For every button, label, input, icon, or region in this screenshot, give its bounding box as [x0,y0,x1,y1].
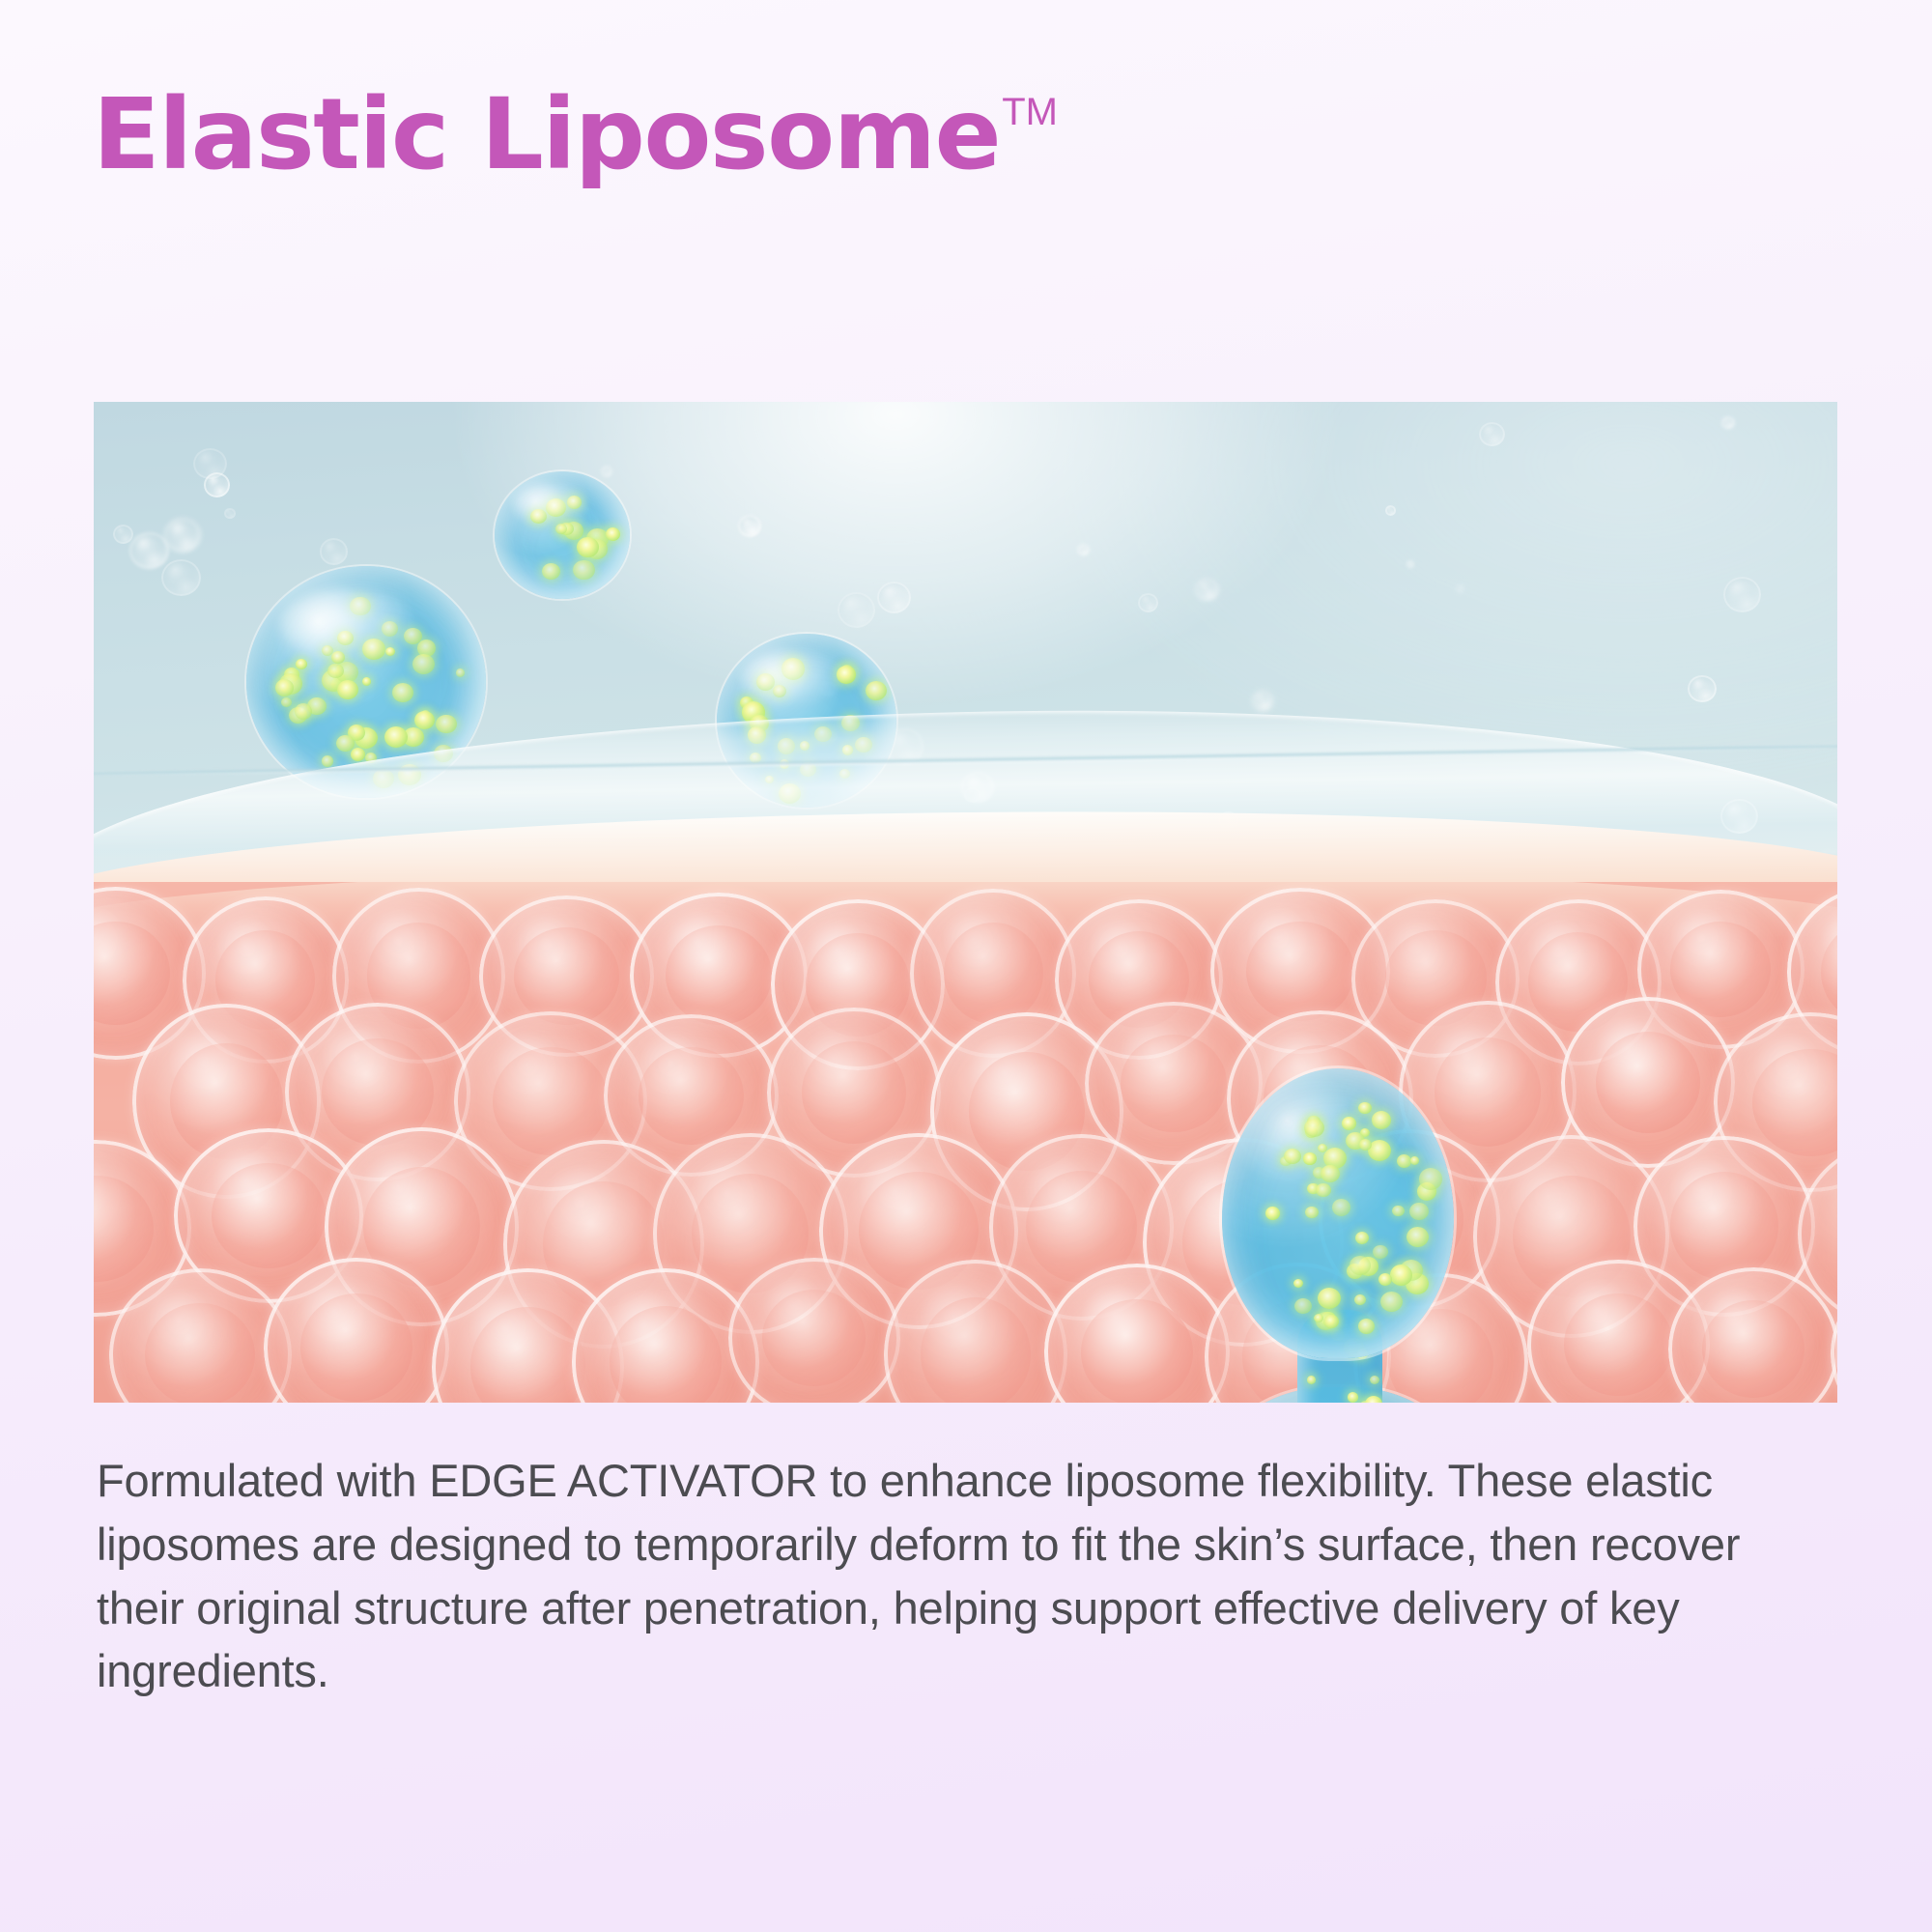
active-ingredient-dot [1307,1376,1316,1384]
page-title-text: Elastic Liposome [93,85,1000,185]
active-ingredient-dot [1318,1288,1341,1309]
skin-cell-core [1702,1300,1804,1398]
active-ingredient-dot [362,639,384,659]
active-ingredient-dot [756,673,775,691]
active-ingredient-dot [1406,1227,1429,1247]
skin-cell-core [1246,922,1353,1021]
liposome-penetration-figure [94,402,1837,1403]
active-ingredient-dot [337,631,354,645]
active-ingredient-dot [296,659,307,669]
active-ingredient-dot [1410,1156,1419,1165]
micro-bubble [193,448,227,480]
active-ingredient-dot [1284,1149,1301,1164]
active-ingredient-dot [275,679,295,696]
micro-bubble [224,508,235,519]
active-ingredient-dot [1419,1168,1443,1190]
active-ingredient-dot [322,755,334,767]
active-ingredient-dot [577,537,598,557]
micro-bubble [129,532,169,569]
active-ingredient-dot [1321,1165,1340,1182]
active-ingredient-dot [781,658,806,680]
skin-cell-core [493,1047,609,1155]
active-ingredient-dot [414,711,435,730]
active-ingredient-dot [1390,1264,1412,1285]
liposome-penetrating-upper-lobe [1222,1068,1454,1358]
active-ingredient-dot [331,651,345,664]
trademark-symbol: TM [1002,93,1058,131]
liposome-penetrating [1205,1068,1475,1403]
micro-bubble [164,518,202,553]
active-ingredient-dot [573,560,595,581]
micro-bubble [1252,691,1273,711]
active-ingredient-dot [350,597,370,616]
active-ingredient-dot [1354,1294,1367,1306]
skin-cell-core [212,1163,326,1268]
skin-cell-core [1752,1049,1837,1156]
active-ingredient-dot [837,666,856,683]
micro-bubble [161,559,201,596]
active-ingredient-dot [436,715,456,733]
active-ingredient-dot [1304,1119,1324,1138]
active-ingredient-dot [866,681,887,700]
micro-bubble [1688,675,1716,702]
micro-bubble [1077,544,1090,555]
active-ingredient-dot [542,563,560,580]
active-ingredient-dot [1303,1152,1316,1164]
active-ingredient-dot [1358,1319,1375,1334]
active-ingredient-dot [530,509,547,525]
skin-cell-core [921,1297,1031,1403]
micro-bubble [1385,505,1396,516]
active-ingredient-dot [1380,1292,1403,1312]
figure-caption: Formulated with EDGE ACTIVATOR to enhanc… [97,1449,1835,1703]
skin-cell-core [94,922,170,1025]
active-ingredient-dot [1355,1232,1369,1244]
micro-bubble [1721,416,1734,429]
active-ingredient-dot [362,677,372,686]
active-ingredient-dot [295,703,312,720]
skin-cell-core [1564,1293,1673,1396]
active-ingredient-dot [327,664,344,679]
active-ingredient-dot [1373,1245,1388,1260]
micro-bubble [1406,560,1414,568]
active-ingredient-dot [351,748,365,761]
active-ingredient-dot [1409,1203,1429,1220]
skin-cell-core [762,1290,866,1386]
skin-cell-core [666,925,772,1025]
active-ingredient-dot [1316,1183,1331,1198]
active-ingredient-dot [1348,1392,1358,1402]
active-ingredient-dot [1392,1206,1405,1217]
active-ingredient-dot [773,685,786,697]
skin-cell-core [1670,922,1771,1017]
skin-cell-core [470,1307,585,1403]
active-ingredient-dot [1372,1111,1391,1129]
active-ingredient-dot [384,726,408,748]
active-ingredient-dot [1365,1396,1382,1403]
active-ingredient-dot [404,628,422,644]
liposome-small-upper [495,471,630,599]
active-ingredient-dot [1358,1102,1372,1115]
micro-bubble [1138,593,1158,612]
active-ingredient-dot [1265,1207,1280,1219]
skin-cell-core [1081,1299,1193,1403]
active-ingredient-dot [392,683,413,703]
skin-cell-core [944,923,1043,1024]
skin-cell-core [639,1047,744,1145]
active-ingredient-dot [1397,1154,1411,1168]
active-ingredient-dot [1378,1273,1393,1286]
active-ingredient-dot [1370,1376,1379,1384]
active-ingredient-dot [412,654,435,674]
active-ingredient-dot [1342,1117,1355,1129]
micro-bubble [738,515,761,536]
skin-cell-core [94,1176,154,1282]
skin-cell-core [300,1293,412,1402]
active-ingredient-dot [1294,1298,1311,1314]
active-ingredient-dot [1293,1279,1303,1288]
active-ingredient-dot [385,647,395,656]
active-ingredient-dot [336,735,354,752]
micro-bubble [113,525,133,544]
skin-cell-core [145,1303,254,1403]
active-ingredient-dot [606,527,620,541]
micro-bubble [320,538,348,564]
active-ingredient-dot [281,697,292,707]
skin-cell-core [1670,1172,1778,1280]
active-ingredient-dot [1359,1139,1372,1151]
active-ingredient-dot [1332,1199,1350,1216]
skin-cell-core [610,1306,723,1403]
skin-cell-core [802,1041,906,1144]
micro-bubble [601,466,612,476]
active-ingredient-dot [546,498,566,517]
active-ingredient-dot [567,496,582,509]
skin-cell-core [514,927,619,1025]
skin-cell-core [1596,1032,1700,1134]
active-ingredient-dot [456,668,466,677]
active-ingredient-dot [322,645,333,656]
active-ingredient-dot [1305,1207,1318,1218]
dermis-cell-layer [94,882,1837,1403]
skin-cell [728,1258,901,1403]
active-ingredient-dot [1350,1256,1371,1275]
active-ingredient-dot [1323,1315,1339,1328]
active-ingredient-dot [337,680,358,699]
skin-cell-core [1821,922,1837,1023]
micro-bubble [838,592,875,628]
active-ingredient-dot [382,621,398,637]
page-title: Elastic Liposome TM [93,85,1058,185]
